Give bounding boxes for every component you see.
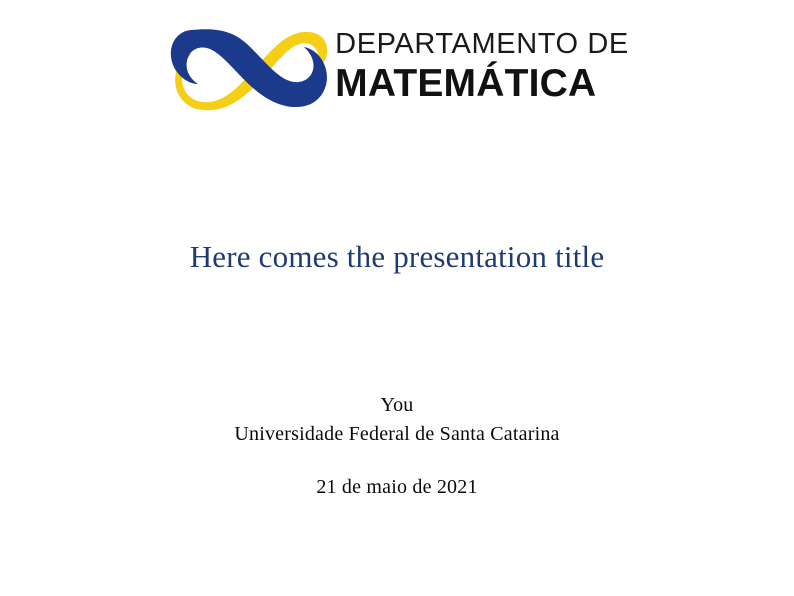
title-slide: DEPARTAMENTO DE MATEMÁTICA Here comes th… — [0, 0, 794, 596]
presentation-title: Here comes the presentation title — [0, 238, 794, 275]
date-area: 21 de maio de 2021 — [0, 476, 794, 499]
author-institute: Universidade Federal de Santa Catarina — [0, 420, 794, 449]
department-logo: DEPARTAMENTO DE MATEMÁTICA — [0, 18, 794, 114]
author-area: You Universidade Federal de Santa Catari… — [0, 391, 794, 449]
logo-wordmark: DEPARTAMENTO DE MATEMÁTICA — [335, 30, 629, 103]
title-area: Here comes the presentation title — [0, 238, 794, 275]
presentation-date: 21 de maio de 2021 — [0, 476, 794, 499]
logo-wordmark-line-2: MATEMÁTICA — [335, 64, 629, 103]
infinity-lemniscate-logo-icon — [165, 18, 333, 114]
logo-wordmark-line-1: DEPARTAMENTO DE — [335, 30, 629, 59]
author-name: You — [0, 391, 794, 420]
